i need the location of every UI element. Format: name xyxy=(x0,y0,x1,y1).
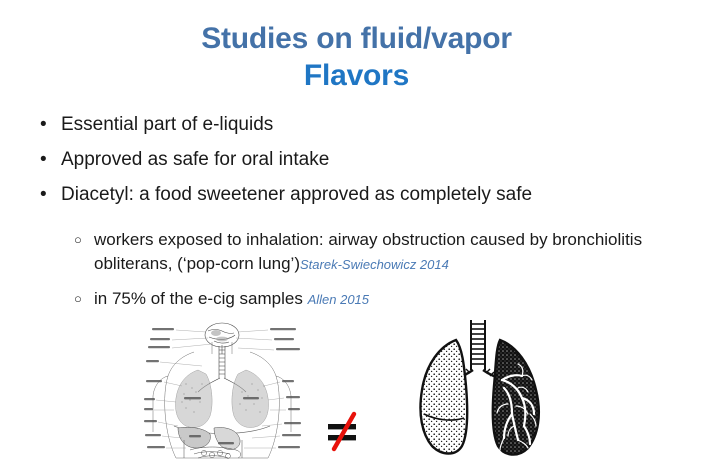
sub-bullet-text-wrap: in 75% of the e-cig samples Allen 2015 xyxy=(94,287,369,312)
sub-bullet-text-wrap: workers exposed to inhalation: airway ob… xyxy=(94,228,704,277)
bullet-text: Approved as safe for oral intake xyxy=(61,147,329,173)
list-item: ○ in 75% of the e-cig samples Allen 2015 xyxy=(74,287,704,312)
not-equal-symbol xyxy=(326,404,364,452)
bullet-marker-icon: • xyxy=(34,182,61,208)
list-item: • Essential part of e-liquids xyxy=(34,112,694,138)
list-item: • Approved as safe for oral intake xyxy=(34,147,694,173)
citation-reference: Starek-Swiechowicz 2014 xyxy=(300,257,449,272)
sub-bullet-text: in 75% of the e-cig samples xyxy=(94,289,303,308)
slide-canvas: Studies on fluid/vapor Flavors • Essenti… xyxy=(0,0,713,460)
lungs-illustration-image xyxy=(398,318,570,460)
sub-bullet-list: ○ workers exposed to inhalation: airway … xyxy=(74,228,704,322)
bullet-marker-icon: • xyxy=(34,147,61,173)
anatomy-diagram-image xyxy=(142,322,302,460)
bullet-text: Diacetyl: a food sweetener approved as c… xyxy=(61,182,532,208)
bullet-marker-icon: • xyxy=(34,112,61,138)
title-line-1: Studies on fluid/vapor xyxy=(0,20,713,57)
sub-bullet-marker-icon: ○ xyxy=(74,228,94,252)
list-item: • Diacetyl: a food sweetener approved as… xyxy=(34,182,694,208)
title-line-2: Flavors xyxy=(0,57,713,94)
list-item: ○ workers exposed to inhalation: airway … xyxy=(74,228,704,277)
page-title: Studies on fluid/vapor Flavors xyxy=(0,20,713,94)
bullet-text: Essential part of e-liquids xyxy=(61,112,273,138)
sub-bullet-marker-icon: ○ xyxy=(74,287,94,311)
bullet-list: • Essential part of e-liquids • Approved… xyxy=(34,112,694,217)
citation-reference: Allen 2015 xyxy=(308,292,369,307)
